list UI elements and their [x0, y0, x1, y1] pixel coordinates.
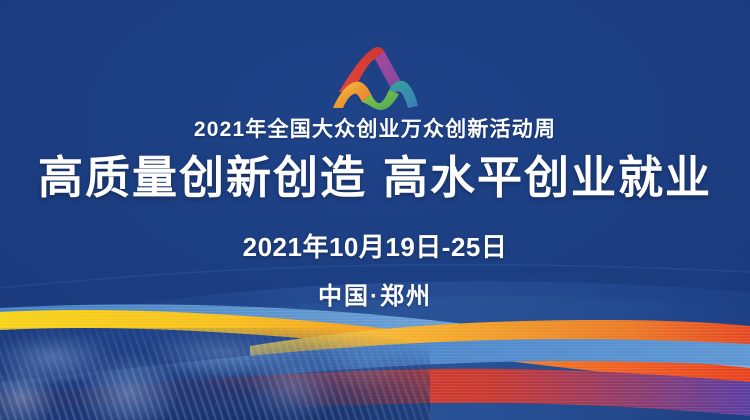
shuangchuang-mountain-logo-icon — [329, 42, 421, 114]
date-line: 2021年10月19日-25日 — [0, 227, 750, 264]
slogan-line: 高质量创新创造高水平创业就业 — [0, 154, 750, 201]
logo — [0, 42, 750, 114]
slogan-part-1: 高质量创新创造 — [38, 152, 367, 203]
bottom-color-ribbon — [0, 290, 750, 420]
slogan-part-2: 高水平创业就业 — [383, 152, 712, 203]
ribbon-bands — [0, 290, 750, 420]
event-poster: 2021年全国大众创业万众创新活动周 高质量创新创造高水平创业就业 2021年1… — [0, 0, 750, 420]
theme-line: 2021年全国大众创业万众创新活动周 — [0, 118, 750, 141]
poster-text-block: 2021年全国大众创业万众创新活动周 高质量创新创造高水平创业就业 2021年1… — [0, 118, 750, 311]
